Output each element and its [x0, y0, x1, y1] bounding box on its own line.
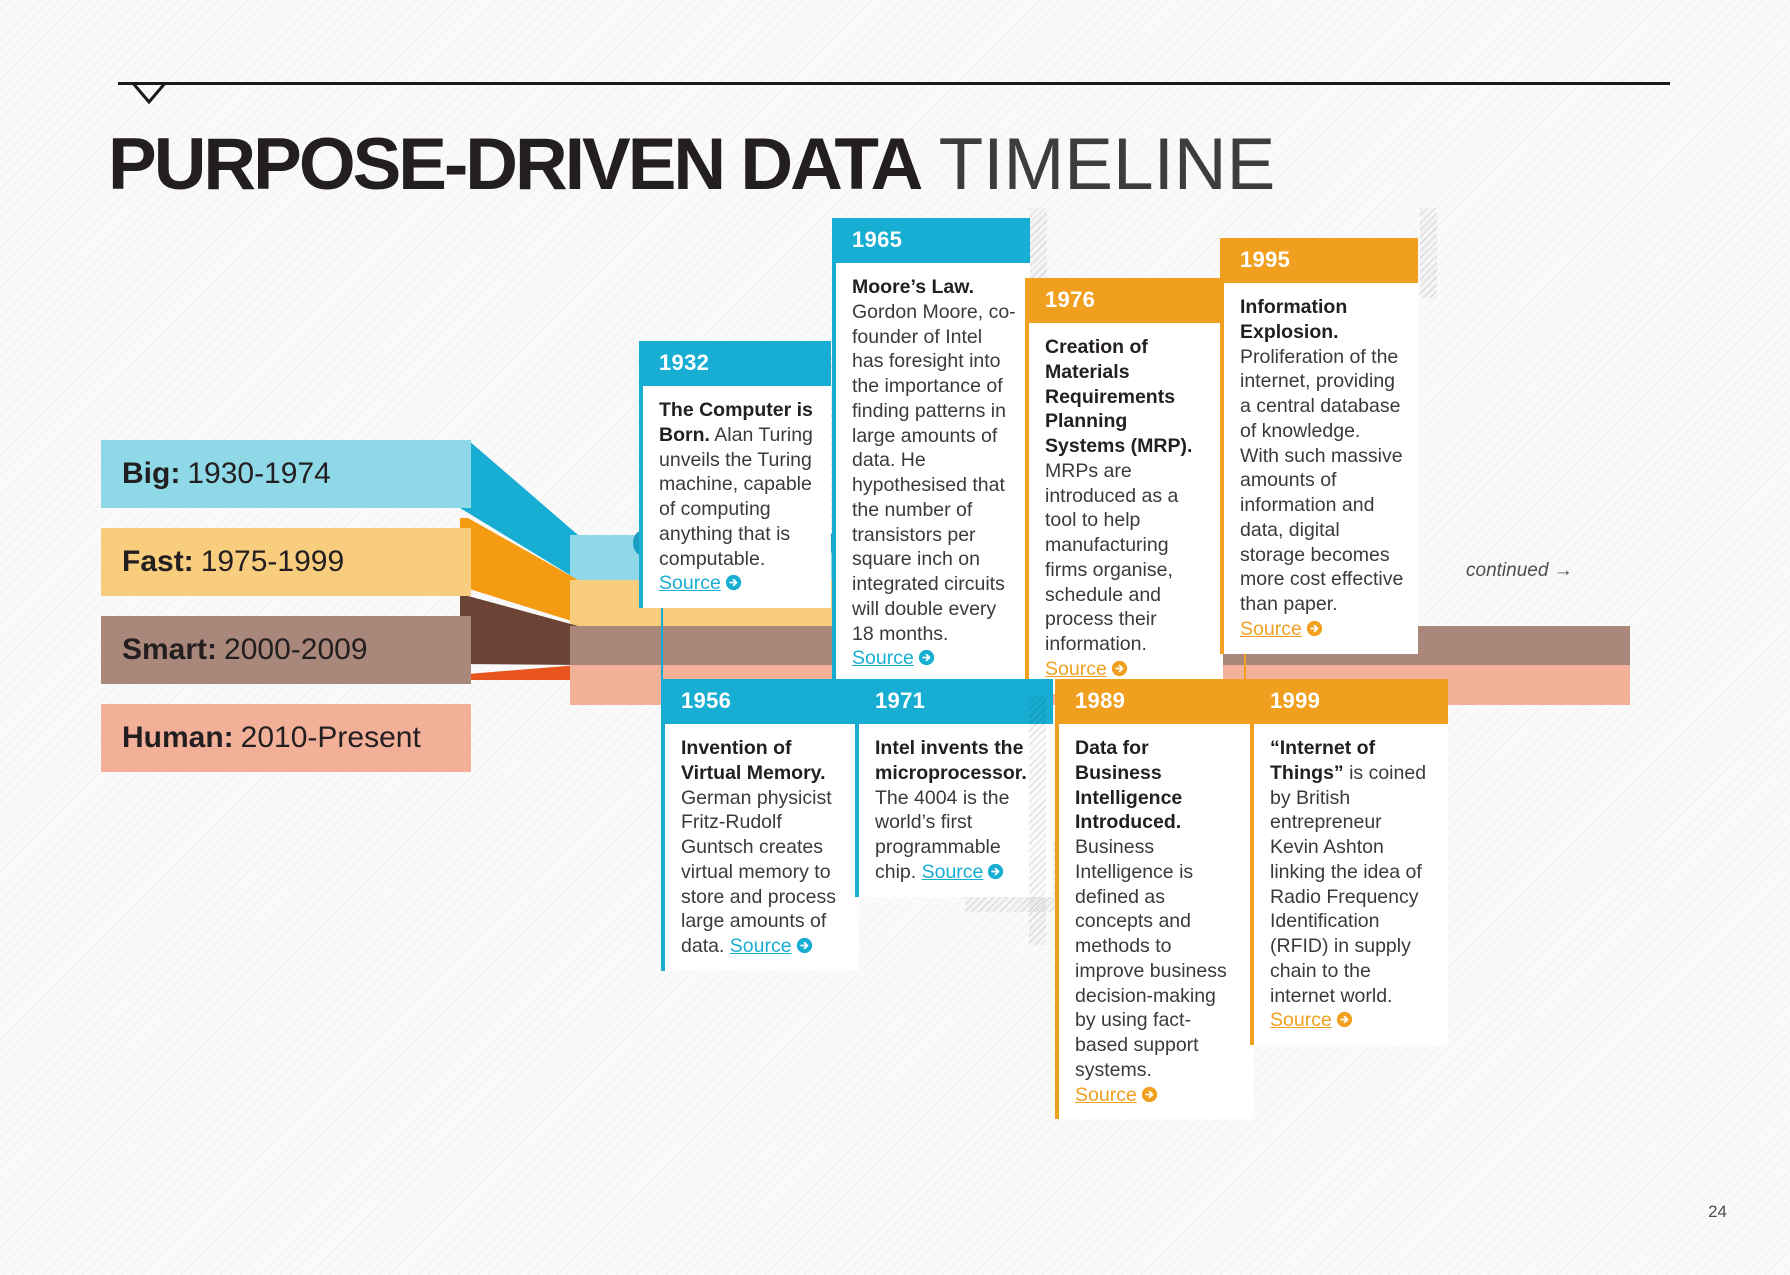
event-card-1965[interactable]: 1965 Moore’s Law. Gordon Moore, co-found…: [832, 218, 1030, 683]
legend-label-big: Big:: [122, 457, 180, 491]
page-title: PURPOSE-DRIVEN DATA TIMELINE: [108, 128, 1275, 201]
legend-label-human: Human:: [122, 721, 234, 755]
event-year-1989: 1989: [1059, 679, 1253, 724]
arrow-circle-right-icon: [1141, 1086, 1158, 1103]
arrow-circle-right-icon: [1336, 1011, 1353, 1028]
legend-item-fast[interactable]: Fast: 1975-1999: [101, 528, 471, 596]
event-title-1956: Invention of Virtual Memory.: [681, 737, 826, 784]
source-link-1956[interactable]: Source: [730, 935, 813, 957]
source-link-1976[interactable]: Source: [1045, 658, 1128, 680]
event-body-1989: Data for Business Intelligence Introduce…: [1059, 724, 1253, 1119]
arrow-circle-right-icon: [1111, 660, 1128, 677]
event-text-1956: German physicist Fritz-Rudolf Guntsch cr…: [681, 787, 836, 958]
continued-indicator[interactable]: continued →: [1466, 560, 1573, 582]
event-card-1976[interactable]: 1976 Creation of Materials Requirements …: [1025, 278, 1223, 694]
legend-item-human[interactable]: Human: 2010-Present: [101, 704, 471, 772]
source-label-1976: Source: [1045, 658, 1107, 680]
page-title-bold: PURPOSE-DRIVEN DATA: [108, 124, 920, 205]
source-label-1956: Source: [730, 935, 792, 957]
event-text-1995: Proliferation of the internet, providing…: [1240, 346, 1403, 616]
continued-label: continued: [1466, 560, 1548, 581]
source-label-1971: Source: [922, 861, 984, 883]
event-card-1971[interactable]: 1971 Intel invents the microprocessor. T…: [855, 679, 1053, 897]
source-label-1932: Source: [659, 572, 721, 594]
event-body-1965: Moore’s Law. Gordon Moore, co-founder of…: [836, 263, 1030, 683]
legend-range-big: 1930-1974: [187, 457, 330, 491]
event-year-1956: 1956: [665, 679, 859, 724]
event-year-1965: 1965: [836, 218, 1030, 263]
arrow-right-icon: →: [1554, 560, 1573, 581]
event-title-1995: Information Explosion.: [1240, 296, 1347, 343]
event-card-1932[interactable]: 1932 The Computer is Born. Alan Turing u…: [639, 341, 831, 608]
source-link-1999[interactable]: Source: [1270, 1009, 1353, 1031]
card-shadow-1995: [1420, 208, 1437, 298]
event-body-1995: Information Explosion. Proliferation of …: [1224, 283, 1418, 654]
source-link-1965[interactable]: Source: [852, 647, 935, 669]
event-year-1971: 1971: [859, 679, 1053, 724]
event-title-1965: Moore’s Law.: [852, 276, 974, 298]
header-notch-icon: [132, 82, 166, 102]
source-label-1999: Source: [1270, 1009, 1332, 1031]
source-link-1932[interactable]: Source: [659, 572, 742, 594]
card-shadow-1989: [1029, 695, 1046, 945]
event-text-1965: Gordon Moore, co-founder of Intel has fo…: [852, 301, 1016, 645]
page-number: 24: [1708, 1202, 1727, 1222]
source-link-1971[interactable]: Source: [922, 861, 1005, 883]
event-card-1995[interactable]: 1995 Information Explosion. Proliferatio…: [1220, 238, 1418, 654]
event-year-1932: 1932: [643, 341, 831, 386]
event-year-1976: 1976: [1029, 278, 1223, 323]
source-label-1989: Source: [1075, 1084, 1137, 1106]
event-card-1989[interactable]: 1989 Data for Business Intelligence Intr…: [1055, 679, 1253, 1119]
event-text-1989: Business Intelligence is defined as conc…: [1075, 836, 1227, 1081]
source-link-1995[interactable]: Source: [1240, 618, 1323, 640]
event-body-1971: Intel invents the microprocessor. The 40…: [859, 724, 1053, 897]
infographic-canvas: PURPOSE-DRIVEN DATA TIMELINE: [0, 0, 1790, 1275]
event-body-1932: The Computer is Born. Alan Turing unveil…: [643, 386, 831, 608]
event-year-1999: 1999: [1254, 679, 1448, 724]
event-text-1999: is coined by British entrepreneur Kevin …: [1270, 762, 1426, 1007]
event-title-1976: Creation of Materials Requirements Plann…: [1045, 336, 1192, 457]
event-title-1989: Data for Business Intelligence Introduce…: [1075, 737, 1182, 833]
arrow-circle-right-icon: [796, 937, 813, 954]
source-label-1965: Source: [852, 647, 914, 669]
legend-item-big[interactable]: Big: 1930-1974: [101, 440, 471, 508]
legend-label-fast: Fast:: [122, 545, 194, 579]
event-body-1976: Creation of Materials Requirements Plann…: [1029, 323, 1223, 694]
header-rule: [118, 82, 1670, 85]
event-card-1956[interactable]: 1956 Invention of Virtual Memory. German…: [661, 679, 859, 971]
legend-range-human: 2010-Present: [241, 721, 421, 755]
legend-item-smart[interactable]: Smart: 2000-2009: [101, 616, 471, 684]
source-label-1995: Source: [1240, 618, 1302, 640]
legend-range-fast: 1975-1999: [201, 545, 344, 579]
arrow-circle-right-icon: [1306, 620, 1323, 637]
event-body-1956: Invention of Virtual Memory. German phys…: [665, 724, 859, 971]
arrow-circle-right-icon: [725, 574, 742, 591]
event-body-1999: “Internet of Things” is coined by Britis…: [1254, 724, 1448, 1045]
event-title-1971: Intel invents the microprocessor.: [875, 737, 1027, 784]
legend-label-smart: Smart:: [122, 633, 217, 667]
event-year-1995: 1995: [1224, 238, 1418, 283]
source-link-1989[interactable]: Source: [1075, 1084, 1158, 1106]
arrow-circle-right-icon: [987, 863, 1004, 880]
event-text-1976: MRPs are introduced as a tool to help ma…: [1045, 460, 1178, 655]
legend-range-smart: 2000-2009: [224, 633, 367, 667]
page-title-light: TIMELINE: [939, 124, 1276, 205]
event-card-1999[interactable]: 1999 “Internet of Things” is coined by B…: [1250, 679, 1448, 1045]
arrow-circle-right-icon: [918, 649, 935, 666]
